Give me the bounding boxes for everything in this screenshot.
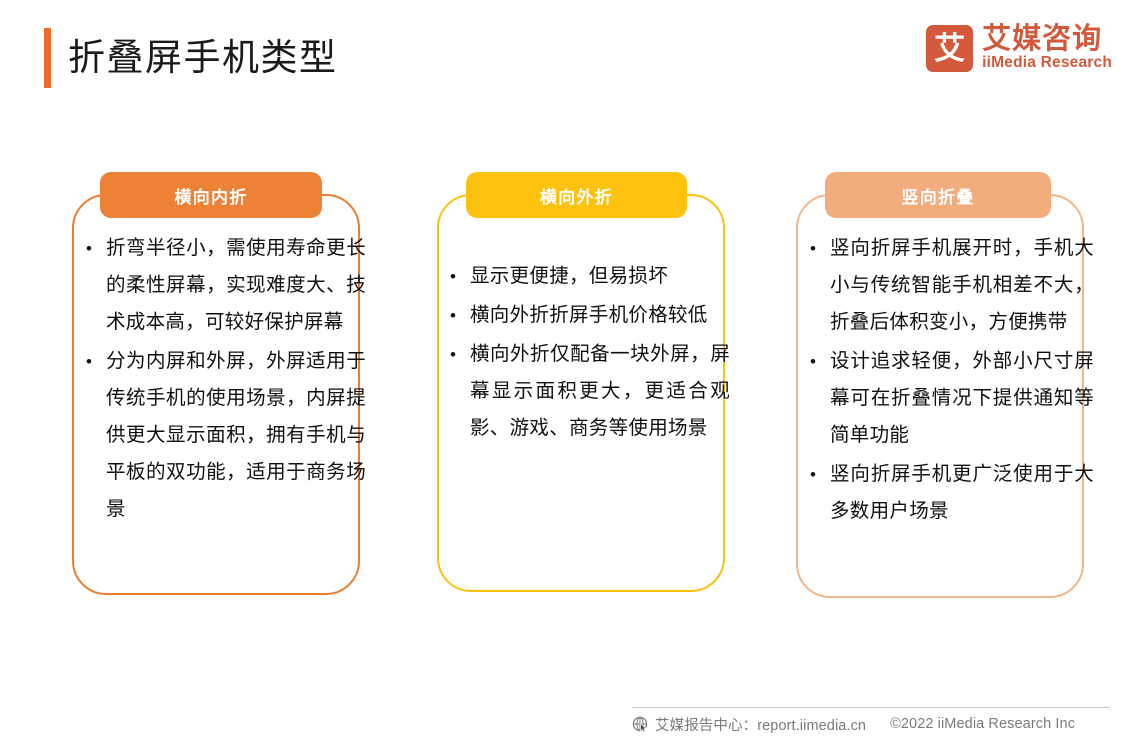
list-item: 竖向折屏手机展开时，手机大小与传统智能手机相差不大，折叠后体积变小，方便携带 <box>788 230 1094 341</box>
logo-mark-icon: 艾 <box>926 25 973 72</box>
page-header: 折叠屏手机类型 艾 艾媒咨询 iiMedia Research <box>0 0 1134 110</box>
card-body-vertical-fold: 竖向折屏手机展开时，手机大小与传统智能手机相差不大，折叠后体积变小，方便携带 设… <box>788 230 1094 532</box>
list-item: 设计追求轻便，外部小尺寸屏幕可在折叠情况下提供通知等简单功能 <box>788 343 1094 454</box>
card-title-vertical-fold: 竖向折叠 <box>825 172 1051 218</box>
card-body-horizontal-inward-fold: 折弯半径小，需使用寿命更长的柔性屏幕，实现难度大、技术成本高，可较好保护屏幕 分… <box>64 230 366 530</box>
list-item: 横向外折仅配备一块外屏，屏幕显示面积更大，更适合观影、游戏、商务等使用场景 <box>428 336 730 447</box>
bullet-list: 显示更便捷，但易损坏 横向外折折屏手机价格较低 横向外折仅配备一块外屏，屏幕显示… <box>428 258 730 447</box>
footer-copyright: ©2022 iiMedia Research Inc <box>890 716 1075 732</box>
footer: 艾媒报告中心：report.iimedia.cn ©2022 iiMedia R… <box>632 711 1114 737</box>
logo-name-en: iiMedia Research <box>982 54 1112 72</box>
logo-text: 艾媒咨询 iiMedia Research <box>982 24 1112 72</box>
list-item: 显示更便捷，但易损坏 <box>428 258 730 295</box>
list-item: 折弯半径小，需使用寿命更长的柔性屏幕，实现难度大、技术成本高，可较好保护屏幕 <box>64 230 366 341</box>
footer-divider <box>632 707 1110 708</box>
bullet-list: 竖向折屏手机展开时，手机大小与传统智能手机相差不大，折叠后体积变小，方便携带 设… <box>788 230 1094 530</box>
list-item: 横向外折折屏手机价格较低 <box>428 297 730 334</box>
card-title-horizontal-inward-fold: 横向内折 <box>100 172 322 218</box>
page-title: 折叠屏手机类型 <box>68 28 338 88</box>
bullet-list: 折弯半径小，需使用寿命更长的柔性屏幕，实现难度大、技术成本高，可较好保护屏幕 分… <box>64 230 366 528</box>
logo-name-cn: 艾媒咨询 <box>982 24 1112 54</box>
footer-source-label: 艾媒报告中心：report.iimedia.cn <box>655 714 866 735</box>
card-body-horizontal-outward-fold: 显示更便捷，但易损坏 横向外折折屏手机价格较低 横向外折仅配备一块外屏，屏幕显示… <box>428 258 730 449</box>
globe-cursor-icon <box>632 716 649 733</box>
card-title-horizontal-outward-fold: 横向外折 <box>466 172 687 218</box>
list-item: 竖向折屏手机更广泛使用于大多数用户场景 <box>788 456 1094 530</box>
title-accent-bar <box>44 28 51 88</box>
brand-logo: 艾 艾媒咨询 iiMedia Research <box>926 24 1112 72</box>
list-item: 分为内屏和外屏，外屏适用于传统手机的使用场景，内屏提供更大显示面积，拥有手机与平… <box>64 343 366 528</box>
